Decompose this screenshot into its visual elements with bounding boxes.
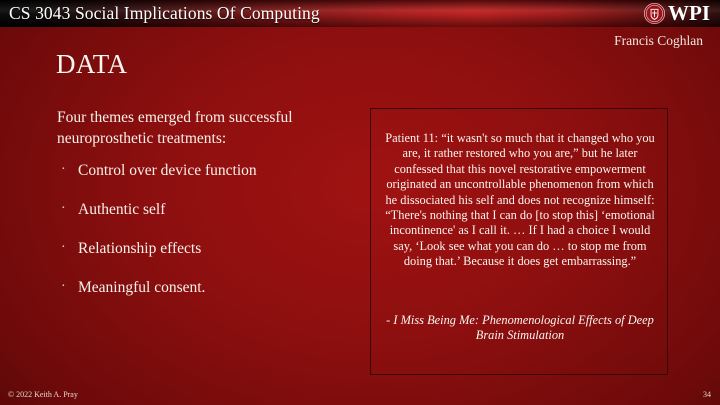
bullet-dot-icon: · bbox=[61, 199, 66, 218]
quote-body: Patient 11: “it wasn't so much that it c… bbox=[384, 131, 656, 270]
wpi-crest-icon bbox=[644, 3, 665, 24]
theme-bullet-list: · Control over device function · Authent… bbox=[57, 161, 357, 297]
wpi-logo: WPI bbox=[644, 1, 710, 26]
page-title: DATA bbox=[56, 48, 127, 80]
bullet-dot-icon: · bbox=[61, 238, 66, 257]
bullet-dot-icon: · bbox=[61, 277, 66, 296]
header-bar: CS 3043 Social Implications Of Computing bbox=[0, 0, 720, 27]
list-item-label: Meaningful consent. bbox=[78, 279, 205, 296]
left-content-column: Four themes emerged from successful neur… bbox=[57, 108, 357, 317]
footer-page-number: 34 bbox=[703, 390, 711, 400]
wpi-wordmark: WPI bbox=[668, 3, 710, 24]
footer-copyright: © 2022 Keith A. Pray bbox=[8, 390, 78, 400]
quote-citation: - I Miss Being Me: Phenomenological Effe… bbox=[384, 313, 656, 344]
list-item-label: Relationship effects bbox=[78, 240, 201, 257]
list-item: · Control over device function bbox=[57, 161, 357, 180]
course-title: CS 3043 Social Implications Of Computing bbox=[9, 1, 320, 25]
list-item-label: Control over device function bbox=[78, 162, 257, 179]
intro-paragraph: Four themes emerged from successful neur… bbox=[57, 108, 297, 149]
list-item: · Meaningful consent. bbox=[57, 278, 357, 297]
list-item-label: Authentic self bbox=[78, 201, 165, 218]
list-item: · Relationship effects bbox=[57, 239, 357, 258]
list-item: · Authentic self bbox=[57, 200, 357, 219]
bullet-dot-icon: · bbox=[61, 160, 66, 179]
author-name: Francis Coghlan bbox=[614, 33, 703, 49]
quote-box: Patient 11: “it wasn't so much that it c… bbox=[370, 108, 668, 375]
slide-canvas: CS 3043 Social Implications Of Computing… bbox=[0, 0, 720, 405]
